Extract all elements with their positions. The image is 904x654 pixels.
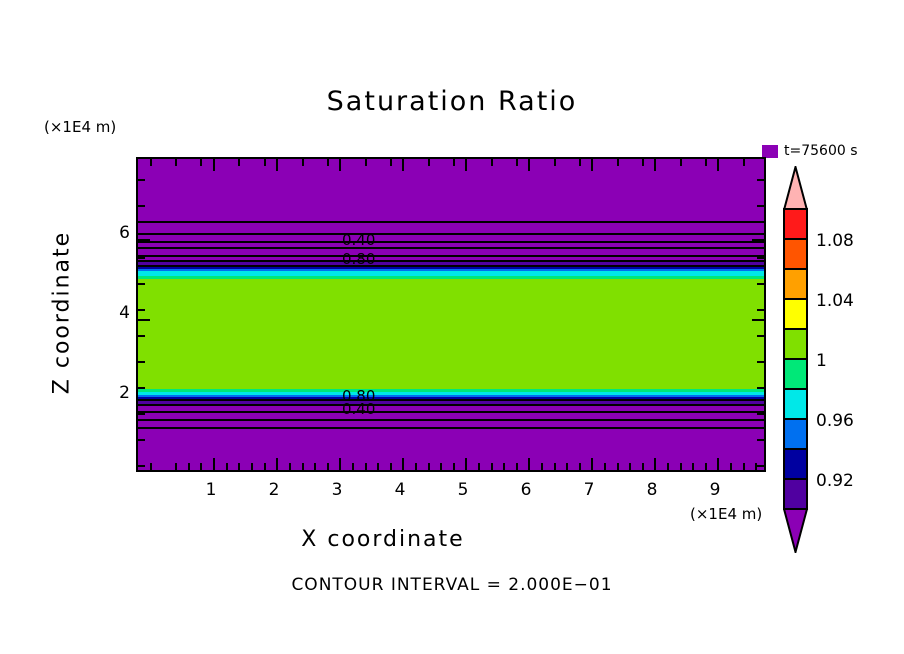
y-minor-tick <box>138 257 145 259</box>
x-minor-tick-top <box>491 159 493 166</box>
x-minor-tick <box>642 463 644 470</box>
y-minor-tick <box>138 179 145 181</box>
y-major-tick <box>138 239 150 241</box>
x-minor-tick <box>377 463 379 470</box>
x-major-tick <box>402 458 404 470</box>
y-minor-tick <box>138 413 145 415</box>
y-minor-tick-right <box>757 257 764 259</box>
contour-label-lower-outer: 0.40 <box>342 400 375 418</box>
y-minor-tick-right <box>757 413 764 415</box>
x-minor-tick <box>503 463 505 470</box>
x-minor-tick <box>516 463 518 470</box>
y-axis-units-label: (×1E4 m) <box>44 118 116 136</box>
y-minor-tick-right <box>757 205 764 207</box>
x-minor-tick-top <box>264 159 266 166</box>
colorbar-tick-label: 0.96 <box>816 411 854 431</box>
x-minor-tick <box>238 463 240 470</box>
x-major-tick <box>465 458 467 470</box>
y-minor-tick <box>138 335 145 337</box>
x-tick-label: 1 <box>191 480 231 500</box>
x-minor-tick <box>730 463 732 470</box>
contour-line <box>138 411 764 413</box>
colorbar-band <box>783 328 808 360</box>
x-major-tick-top <box>717 159 719 171</box>
x-minor-tick-top <box>200 159 202 166</box>
x-minor-tick <box>390 463 392 470</box>
x-major-tick-top <box>591 159 593 171</box>
contour-line <box>138 255 764 257</box>
color-band-core <box>138 279 764 389</box>
x-minor-tick-top <box>642 159 644 166</box>
x-minor-tick <box>251 463 253 470</box>
colorbar-band <box>783 268 808 300</box>
x-minor-tick-top <box>680 159 682 166</box>
x-tick-label: 5 <box>443 480 483 500</box>
colorbar-band <box>783 478 808 510</box>
x-minor-tick-top <box>617 159 619 166</box>
x-tick-label: 4 <box>380 480 420 500</box>
x-minor-tick <box>314 463 316 470</box>
contour-line <box>138 221 764 223</box>
y-axis-title: Z coordinate <box>50 203 75 423</box>
x-major-tick <box>276 458 278 470</box>
x-major-tick-top <box>465 159 467 171</box>
x-minor-tick <box>453 463 455 470</box>
colorbar-top-arrow <box>783 166 808 211</box>
colorbar-band <box>783 238 808 270</box>
colorbar-band <box>783 208 808 240</box>
x-minor-tick <box>289 463 291 470</box>
x-tick-label: 2 <box>254 480 294 500</box>
y-minor-tick-right <box>757 335 764 337</box>
x-minor-tick <box>327 463 329 470</box>
x-minor-tick <box>604 463 606 470</box>
x-minor-tick <box>352 463 354 470</box>
x-axis-units-label: (×1E4 m) <box>690 505 762 523</box>
x-minor-tick <box>440 463 442 470</box>
x-minor-tick <box>491 463 493 470</box>
x-major-tick <box>528 458 530 470</box>
x-minor-tick <box>200 463 202 470</box>
x-tick-label: 8 <box>632 480 672 500</box>
colorbar-tick-label: 1.08 <box>816 231 854 251</box>
x-minor-tick-top <box>150 159 152 166</box>
x-major-tick <box>213 458 215 470</box>
x-minor-tick-top <box>516 159 518 166</box>
contour-line <box>138 233 764 235</box>
x-minor-tick-top <box>705 159 707 166</box>
x-minor-tick <box>680 463 682 470</box>
x-minor-tick <box>150 463 152 470</box>
x-minor-tick <box>629 463 631 470</box>
y-tick-label: 6 <box>100 223 130 243</box>
y-major-tick-right <box>752 239 764 241</box>
y-minor-tick-right <box>757 465 764 467</box>
x-minor-tick <box>541 463 543 470</box>
contour-plot-area[interactable]: 0.40 0.80 0.80 0.40 <box>136 157 766 472</box>
contour-line <box>138 427 764 429</box>
x-minor-tick-top <box>579 159 581 166</box>
y-minor-tick <box>138 361 145 363</box>
x-tick-label: 6 <box>506 480 546 500</box>
x-minor-tick <box>579 463 581 470</box>
x-minor-tick <box>415 463 417 470</box>
y-tick-label: 2 <box>100 383 130 403</box>
colorbar[interactable]: 1.08 1.04 1 0.96 0.92 <box>783 208 808 522</box>
x-tick-label: 7 <box>569 480 609 500</box>
x-tick-label: 9 <box>695 480 735 500</box>
x-minor-tick <box>365 463 367 470</box>
x-minor-tick <box>554 463 556 470</box>
x-minor-tick <box>188 463 190 470</box>
x-minor-tick <box>617 463 619 470</box>
x-minor-tick-top <box>554 159 556 166</box>
x-minor-tick-top <box>453 159 455 166</box>
contour-line <box>138 247 764 249</box>
x-major-tick <box>339 458 341 470</box>
colorbar-bottom-arrow <box>783 508 808 553</box>
contour-label-upper-inner: 0.80 <box>342 250 375 268</box>
x-minor-tick <box>428 463 430 470</box>
y-minor-tick-right <box>757 283 764 285</box>
x-minor-tick <box>743 463 745 470</box>
x-minor-tick-top <box>743 159 745 166</box>
x-minor-tick <box>226 463 228 470</box>
x-minor-tick <box>692 463 694 470</box>
x-major-tick-top <box>528 159 530 171</box>
y-tick-label: 4 <box>100 303 130 323</box>
x-minor-tick <box>667 463 669 470</box>
contour-interval-caption: CONTOUR INTERVAL = 2.000E−01 <box>0 575 904 595</box>
y-minor-tick <box>138 465 145 467</box>
colorbar-band <box>783 298 808 330</box>
x-minor-tick <box>566 463 568 470</box>
x-major-tick-top <box>213 159 215 171</box>
x-tick-label: 3 <box>317 480 357 500</box>
contour-label-upper-outer: 0.40 <box>342 231 375 249</box>
x-minor-tick <box>175 463 177 470</box>
colorbar-band <box>783 448 808 480</box>
y-minor-tick-right <box>757 179 764 181</box>
y-minor-tick <box>138 283 145 285</box>
y-minor-tick <box>138 205 145 207</box>
timestamp-label: t=75600 s <box>784 143 858 159</box>
x-minor-tick <box>264 463 266 470</box>
x-minor-tick <box>302 463 304 470</box>
x-minor-tick <box>478 463 480 470</box>
y-major-tick-right <box>752 319 764 321</box>
y-minor-tick-right <box>757 439 764 441</box>
x-minor-tick-top <box>302 159 304 166</box>
x-major-tick-top <box>276 159 278 171</box>
y-major-tick-right <box>752 399 764 401</box>
colorbar-band <box>783 388 808 420</box>
x-major-tick <box>717 458 719 470</box>
x-major-tick <box>591 458 593 470</box>
x-major-tick-top <box>402 159 404 171</box>
y-minor-tick <box>138 439 145 441</box>
colorbar-tick-label: 0.92 <box>816 471 854 491</box>
y-major-tick <box>138 399 150 401</box>
y-minor-tick-right <box>757 361 764 363</box>
colorbar-band <box>783 418 808 450</box>
y-major-tick <box>138 319 150 321</box>
x-minor-tick-top <box>390 159 392 166</box>
x-minor-tick <box>705 463 707 470</box>
x-minor-tick-top <box>428 159 430 166</box>
y-minor-tick-right <box>757 309 764 311</box>
contour-line <box>138 419 764 421</box>
y-minor-tick <box>138 387 145 389</box>
x-major-tick-top <box>654 159 656 171</box>
y-minor-tick <box>138 309 145 311</box>
x-axis-title: X coordinate <box>0 527 766 552</box>
colorbar-tick-label: 1.04 <box>816 291 854 311</box>
page-title: Saturation Ratio <box>0 86 904 117</box>
colorbar-tick-label: 1 <box>816 351 827 371</box>
x-minor-tick-top <box>327 159 329 166</box>
x-minor-tick-top <box>238 159 240 166</box>
x-minor-tick-top <box>365 159 367 166</box>
x-minor-tick-top <box>175 159 177 166</box>
colorbar-band <box>783 358 808 390</box>
x-major-tick <box>654 458 656 470</box>
y-minor-tick-right <box>757 387 764 389</box>
x-major-tick-top <box>339 159 341 171</box>
